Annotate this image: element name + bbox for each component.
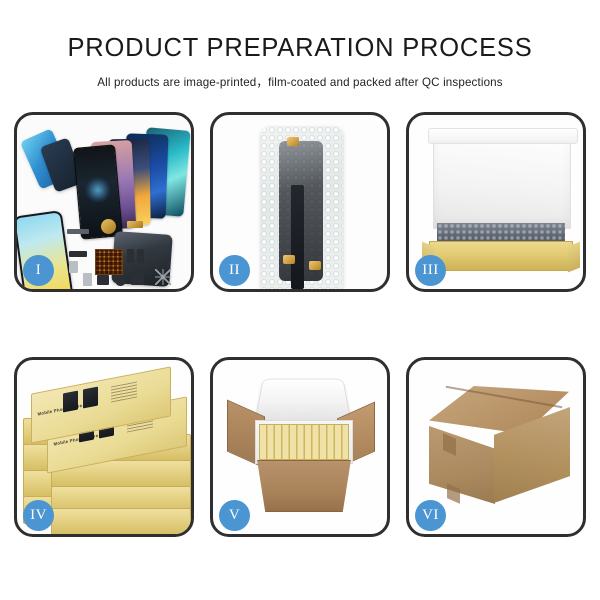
step-badge-5: V (219, 500, 250, 531)
part-gold-connector-icon (127, 221, 143, 228)
stacked-box (51, 508, 191, 534)
part-flex-strip-icon (67, 229, 89, 234)
step-badge-3: III (415, 255, 446, 286)
part-speaker-icon (115, 275, 126, 286)
page-title: PRODUCT PREPARATION PROCESS (0, 0, 600, 63)
step-badge-2: II (219, 255, 250, 286)
part-button-2-icon (137, 249, 144, 263)
part-gold-coil-icon (101, 219, 116, 234)
part-bracket-icon (69, 251, 87, 257)
gold-tab-top-icon (287, 137, 299, 146)
part-sim-tray-icon (83, 273, 92, 286)
spare-parts-cluster (65, 215, 175, 289)
process-step-panel-5[interactable]: V (210, 357, 390, 537)
box-label-chip-4-icon (83, 387, 98, 409)
step-badge-6: VI (415, 500, 446, 531)
sparkle-icon (155, 269, 171, 285)
part-clip-icon (69, 261, 78, 273)
gold-tab-bottom-icon (283, 255, 295, 264)
foam-lid-icon (254, 379, 351, 422)
process-step-panel-1[interactable]: I (14, 112, 194, 292)
process-step-panel-3[interactable]: III (406, 112, 586, 292)
step-badge-1: I (23, 255, 54, 286)
gold-tab-bottom-2-icon (309, 261, 321, 270)
part-keypad-icon (95, 249, 123, 275)
process-step-panel-4[interactable]: Mobile Phone Spare Parts Mobile Phone Sp… (14, 357, 194, 537)
bubble-wrap-bag-icon (261, 127, 343, 289)
step-badge-4: IV (23, 500, 54, 531)
packed-yellow-boxes-icon (259, 424, 349, 460)
carton-body-icon (253, 460, 355, 512)
carton-left-face-icon (429, 426, 495, 504)
yellow-box-base-icon (429, 241, 573, 271)
process-step-panel-2[interactable]: II (210, 112, 390, 292)
box-label-chip-3-icon (63, 391, 78, 413)
part-button-icon (127, 249, 134, 263)
part-camera-icon (97, 275, 109, 285)
page-subtitle: All products are image-printed，film-coat… (0, 63, 600, 90)
header: PRODUCT PREPARATION PROCESS All products… (0, 0, 600, 90)
process-step-grid: I II III (14, 112, 586, 537)
flex-cable-icon (291, 185, 304, 289)
part-module-icon (131, 273, 144, 285)
white-box-lid-icon (433, 131, 571, 229)
process-step-panel-6[interactable]: VI (406, 357, 586, 537)
